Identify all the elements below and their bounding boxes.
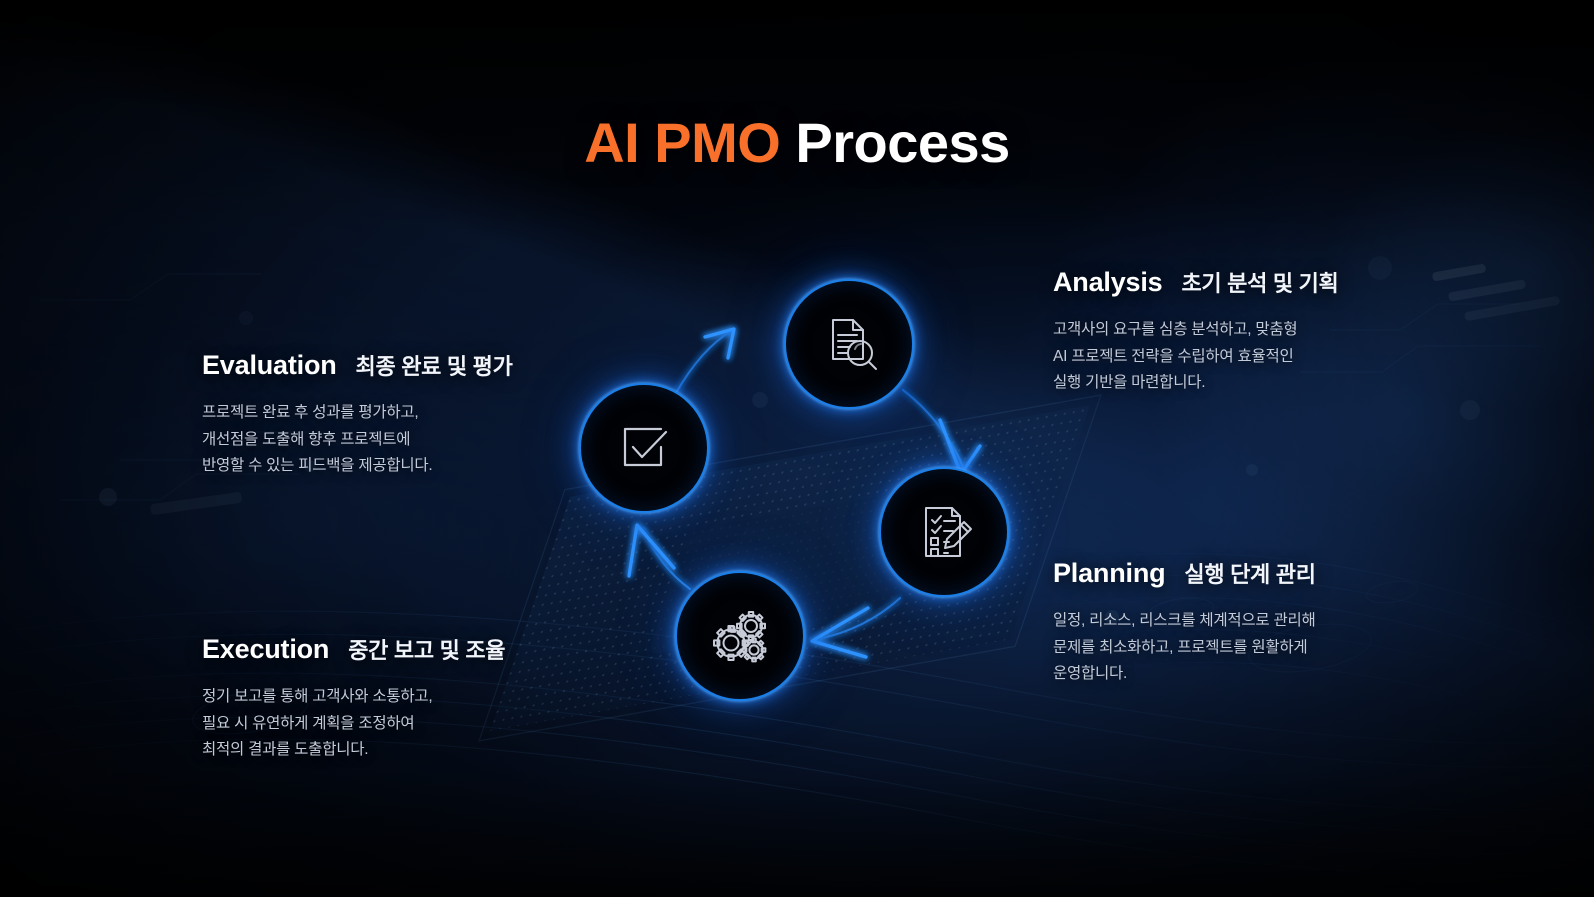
step-body-line: 필요 시 유연하게 계획을 조정하여	[202, 711, 505, 738]
page-title-plain: Process	[795, 111, 1009, 174]
step-body-line: 반영할 수 있는 피드백을 제공합니다.	[202, 453, 513, 480]
gears-icon	[703, 599, 777, 673]
step-block-planning: Planning 실행 단계 관리 일정, 리소스, 리스크를 체계적으로 관리…	[1053, 557, 1316, 688]
step-body-execution: 정기 보고를 통해 고객사와 소통하고, 필요 시 유연하게 계획을 조정하여 …	[202, 684, 505, 764]
step-body-line: 일정, 리소스, 리스크를 체계적으로 관리해	[1053, 608, 1316, 635]
step-body-line: 최적의 결과를 도출합니다.	[202, 737, 505, 764]
step-body-line: 프로젝트 완료 후 성과를 평가하고,	[202, 400, 513, 427]
step-body-line: 정기 보고를 통해 고객사와 소통하고,	[202, 684, 505, 711]
step-title-en-evaluation: Evaluation	[202, 350, 337, 381]
step-block-analysis: Analysis 초기 분석 및 기획 고객사의 요구를 심층 분석하고, 맞춤…	[1053, 266, 1339, 397]
step-title-en-execution: Execution	[202, 634, 329, 665]
checklist-pencil-icon	[908, 496, 980, 568]
step-body-line: 문제를 최소화하고, 프로젝트를 원활하게	[1053, 635, 1316, 662]
step-body-line: AI 프로젝트 전략을 수립하여 효율적인	[1053, 344, 1339, 371]
step-title-ko-planning: 실행 단계 관리	[1184, 557, 1315, 589]
step-title-ko-analysis: 초기 분석 및 기획	[1181, 266, 1338, 298]
slide-canvas: AI PMO Process	[0, 0, 1594, 897]
step-body-analysis: 고객사의 요구를 심층 분석하고, 맞춤형 AI 프로젝트 전략을 수립하여 효…	[1053, 317, 1339, 397]
step-title-en-planning: Planning	[1053, 558, 1165, 589]
step-block-evaluation: Evaluation 최종 완료 및 평가 프로젝트 완료 후 성과를 평가하고…	[202, 349, 513, 480]
step-title-ko-execution: 중간 보고 및 조율	[348, 633, 505, 665]
checkbox-check-icon	[611, 415, 677, 481]
step-heading-planning: Planning 실행 단계 관리	[1053, 557, 1316, 589]
cycle-node-planning[interactable]	[879, 467, 1009, 597]
step-title-ko-evaluation: 최종 완료 및 평가	[356, 349, 513, 381]
step-heading-analysis: Analysis 초기 분석 및 기획	[1053, 266, 1339, 298]
step-heading-execution: Execution 중간 보고 및 조율	[202, 633, 505, 665]
cycle-node-evaluation[interactable]	[579, 383, 709, 513]
step-body-line: 개선점을 도출해 향후 프로젝트에	[202, 427, 513, 454]
step-block-execution: Execution 중간 보고 및 조율 정기 보고를 통해 고객사와 소통하고…	[202, 633, 505, 764]
step-body-planning: 일정, 리소스, 리스크를 체계적으로 관리해 문제를 최소화하고, 프로젝트를…	[1053, 608, 1316, 688]
step-body-evaluation: 프로젝트 완료 후 성과를 평가하고, 개선점을 도출해 향후 프로젝트에 반영…	[202, 400, 513, 480]
step-body-line: 운영합니다.	[1053, 661, 1316, 688]
page-title: AI PMO Process	[0, 112, 1594, 174]
step-body-line: 실행 기반을 마련합니다.	[1053, 370, 1339, 397]
cycle-node-analysis[interactable]	[784, 279, 914, 409]
document-magnifier-icon	[813, 308, 885, 380]
step-title-en-analysis: Analysis	[1053, 267, 1162, 298]
step-heading-evaluation: Evaluation 최종 완료 및 평가	[202, 349, 513, 381]
page-title-accent: AI PMO	[584, 111, 780, 174]
step-body-line: 고객사의 요구를 심층 분석하고, 맞춤형	[1053, 317, 1339, 344]
cycle-node-execution[interactable]	[675, 571, 805, 701]
